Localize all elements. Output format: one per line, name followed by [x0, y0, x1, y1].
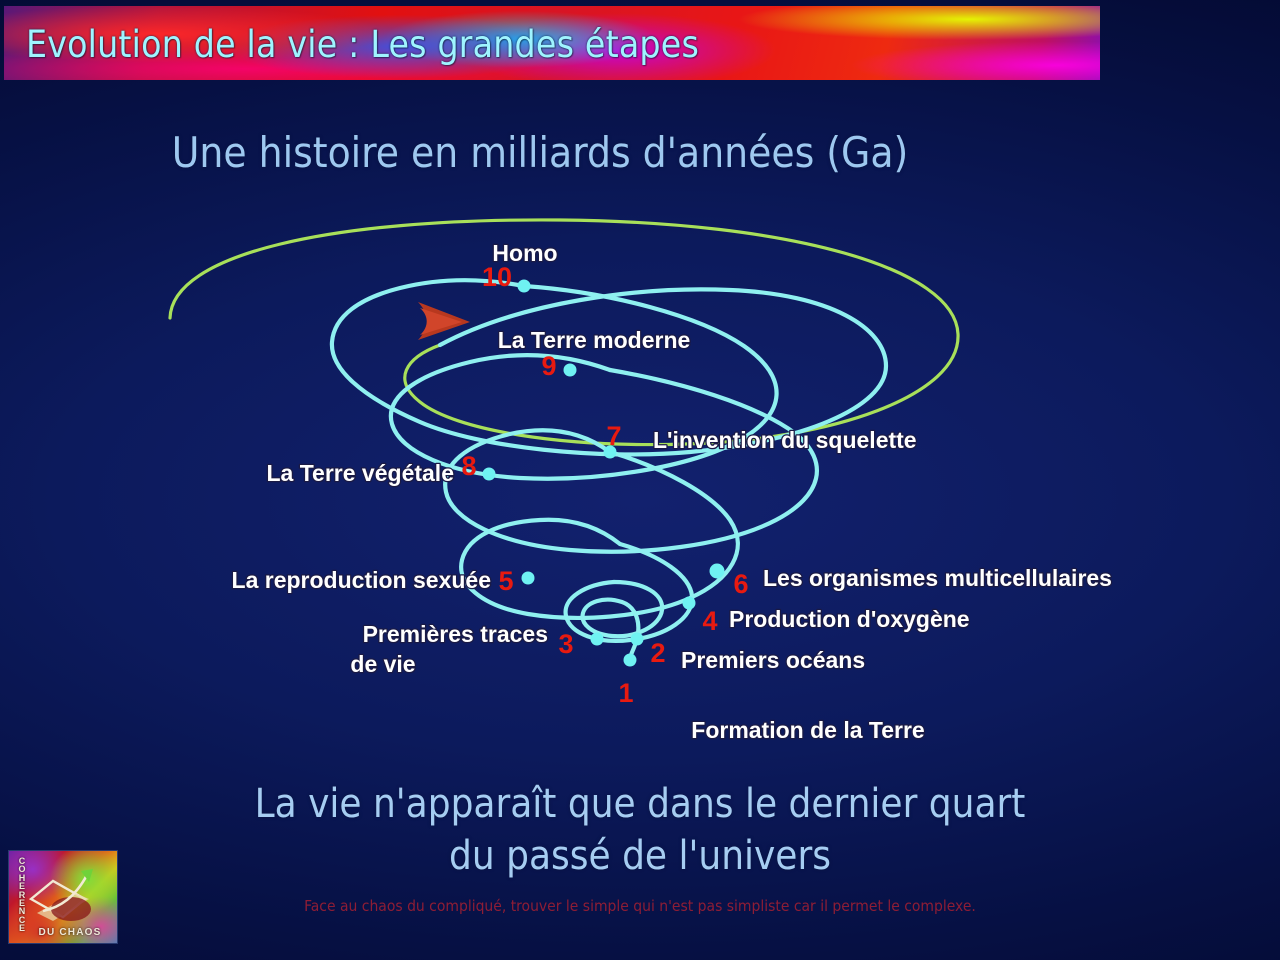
- title-banner: Evolution de la vie : Les grandes étapes: [4, 6, 1100, 80]
- event-label-premiers-oceans: Premiers océans: [681, 647, 865, 673]
- event-label-homo: Homo: [492, 240, 557, 266]
- node-dot: [591, 633, 604, 646]
- conclusion-line-2: du passé de l'univers: [0, 830, 1280, 882]
- logo-coherence-du-chaos[interactable]: COHERENCE DU CHAOS: [8, 850, 118, 944]
- logo-mark-icon: [23, 865, 103, 931]
- step-number-10: 10: [482, 262, 512, 292]
- event-label-formation-de-la-terre: Formation de la Terre: [691, 717, 924, 743]
- event-label-la-terre-moderne: La Terre moderne: [498, 327, 691, 353]
- event-label-production-doxygene: Production d'oxygène: [729, 606, 970, 632]
- step-number-5: 5: [498, 566, 513, 596]
- logo-vertical-text: COHERENCE: [15, 857, 29, 937]
- footer-note: Face au chaos du compliqué, trouver le s…: [0, 897, 1280, 915]
- event-label-les-organismes-multicellulaires: Les organismes multicellulaires: [763, 565, 1112, 591]
- event-label-premieres-traces-de-vie-2: de vie: [350, 651, 415, 677]
- node-dot: [518, 280, 531, 293]
- node-dot: [710, 564, 725, 579]
- logo-horizontal-text: DU CHAOS: [27, 927, 113, 938]
- conclusion-line-1: La vie n'apparaît que dans le dernier qu…: [0, 778, 1280, 830]
- node-dot: [683, 597, 696, 610]
- event-label-la-reproduction-sexuee: La reproduction sexuée: [232, 567, 491, 593]
- node-dot: [624, 654, 637, 667]
- step-number-6: 6: [733, 569, 748, 599]
- step-number-3: 3: [558, 629, 573, 659]
- step-number-1: 1: [618, 678, 633, 708]
- node-dot: [483, 468, 496, 481]
- step-number-9: 9: [541, 351, 556, 381]
- subtitle: Une histoire en milliards d'années (Ga): [0, 128, 1080, 177]
- step-number-7: 7: [606, 421, 621, 451]
- slide-root: Evolution de la vie : Les grandes étapes…: [0, 0, 1280, 960]
- node-dot: [631, 633, 644, 646]
- page-title: Evolution de la vie : Les grandes étapes: [26, 23, 699, 66]
- conclusion-text: La vie n'apparaît que dans le dernier qu…: [0, 778, 1280, 882]
- event-label-premieres-traces-de-vie: Premières traces: [363, 621, 548, 647]
- event-label-linvention-du-squelette: L'invention du squelette: [653, 427, 917, 453]
- step-number-4: 4: [702, 606, 717, 636]
- event-label-la-terre-vegetale: La Terre végétale: [266, 460, 454, 486]
- step-number-8: 8: [461, 451, 476, 481]
- node-dot: [564, 364, 577, 377]
- evolution-spiral-diagram: 1 2 3 4 5 6 7 8 9 10 Formation de la Ter…: [0, 190, 1280, 770]
- step-number-2: 2: [650, 638, 665, 668]
- node-dot: [522, 572, 535, 585]
